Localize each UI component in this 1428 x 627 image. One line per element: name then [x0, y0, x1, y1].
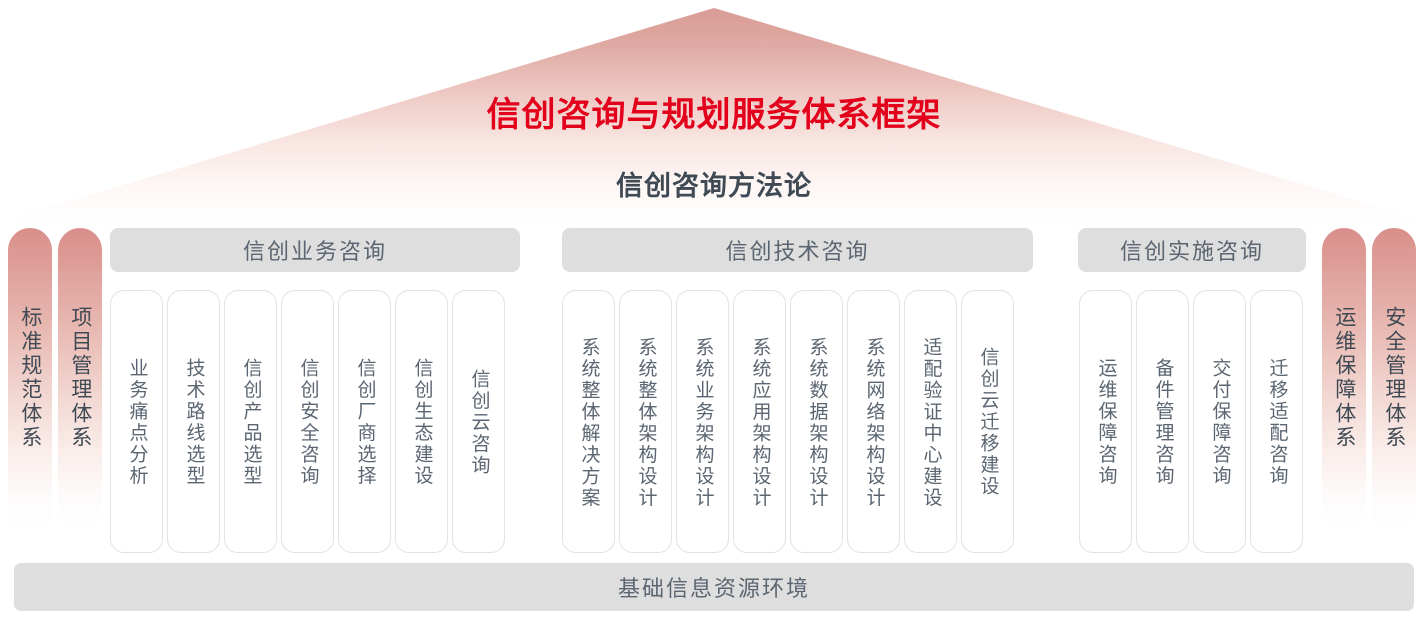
- diagram-canvas: 信创咨询与规划服务体系框架 信创咨询方法论 标准规范体系 项目管理体系 运维保障…: [0, 0, 1428, 627]
- pillar-label: 项目管理体系: [58, 306, 102, 476]
- service-card[interactable]: 系统业务架构设计: [676, 290, 729, 553]
- pillar-ops-assurance-system: 运维保障体系: [1322, 228, 1366, 525]
- service-card[interactable]: 技术路线选型: [167, 290, 220, 553]
- pillar-label: 标准规范体系: [8, 306, 52, 476]
- service-card-label: 交付保障咨询: [1210, 358, 1230, 487]
- group-header: 信创技术咨询: [562, 228, 1033, 272]
- service-card-label: 系统业务架构设计: [693, 337, 713, 509]
- service-card[interactable]: 适配验证中心建设: [904, 290, 957, 553]
- service-card[interactable]: 交付保障咨询: [1193, 290, 1246, 553]
- service-card[interactable]: 信创云咨询: [452, 290, 505, 553]
- group-card-list: 业务痛点分析 技术路线选型 信创产品选型 信创安全咨询 信创厂商选择 信创生态建…: [110, 290, 505, 553]
- service-card[interactable]: 系统整体架构设计: [619, 290, 672, 553]
- service-card[interactable]: 信创生态建设: [395, 290, 448, 553]
- group-header: 信创业务咨询: [110, 228, 520, 272]
- service-card[interactable]: 迁移适配咨询: [1250, 290, 1303, 553]
- group-header-label: 信创业务咨询: [243, 234, 387, 266]
- service-card-label: 信创云迁移建设: [978, 347, 998, 498]
- service-card-label: 信创云咨询: [469, 369, 489, 477]
- service-card-label: 运维保障咨询: [1096, 358, 1116, 487]
- service-card-label: 信创生态建设: [412, 358, 432, 487]
- service-card-label: 系统应用架构设计: [750, 337, 770, 509]
- pillar-project-management-system: 项目管理体系: [58, 228, 102, 525]
- service-card-label: 系统整体架构设计: [636, 337, 656, 509]
- foundation-bar: 基础信息资源环境: [14, 563, 1414, 611]
- service-card-label: 迁移适配咨询: [1267, 358, 1287, 487]
- service-card-label: 信创产品选型: [241, 358, 261, 487]
- group-header-label: 信创技术咨询: [725, 234, 869, 266]
- group-header-label: 信创实施咨询: [1120, 234, 1264, 266]
- foundation-bar-label: 基础信息资源环境: [618, 571, 810, 603]
- page-subtitle: 信创咨询方法论: [0, 171, 1428, 202]
- service-card-label: 备件管理咨询: [1153, 358, 1173, 487]
- group-card-list: 运维保障咨询 备件管理咨询 交付保障咨询 迁移适配咨询: [1079, 290, 1303, 553]
- service-card[interactable]: 信创厂商选择: [338, 290, 391, 553]
- service-card-label: 系统网络架构设计: [864, 337, 884, 509]
- service-card-label: 业务痛点分析: [127, 358, 147, 487]
- pillar-standards-system: 标准规范体系: [8, 228, 52, 525]
- page-title: 信创咨询与规划服务体系框架: [0, 96, 1428, 135]
- service-card-label: 适配验证中心建设: [921, 337, 941, 509]
- service-card[interactable]: 备件管理咨询: [1136, 290, 1189, 553]
- service-card-label: 系统数据架构设计: [807, 337, 827, 509]
- service-card-label: 信创厂商选择: [355, 358, 375, 487]
- pillar-label: 运维保障体系: [1322, 306, 1366, 476]
- service-card-label: 信创安全咨询: [298, 358, 318, 487]
- group-card-list: 系统整体解决方案 系统整体架构设计 系统业务架构设计 系统应用架构设计 系统数据…: [562, 290, 1014, 553]
- group-header: 信创实施咨询: [1078, 228, 1306, 272]
- service-card[interactable]: 系统应用架构设计: [733, 290, 786, 553]
- service-card[interactable]: 系统网络架构设计: [847, 290, 900, 553]
- service-card[interactable]: 系统数据架构设计: [790, 290, 843, 553]
- pillar-label: 安全管理体系: [1372, 306, 1416, 476]
- service-card[interactable]: 系统整体解决方案: [562, 290, 615, 553]
- service-card[interactable]: 业务痛点分析: [110, 290, 163, 553]
- service-card-label: 技术路线选型: [184, 358, 204, 487]
- service-card-label: 系统整体解决方案: [579, 337, 599, 509]
- service-card[interactable]: 信创云迁移建设: [961, 290, 1014, 553]
- service-card[interactable]: 信创安全咨询: [281, 290, 334, 553]
- service-card[interactable]: 信创产品选型: [224, 290, 277, 553]
- pillar-security-management-system: 安全管理体系: [1372, 228, 1416, 525]
- service-card[interactable]: 运维保障咨询: [1079, 290, 1132, 553]
